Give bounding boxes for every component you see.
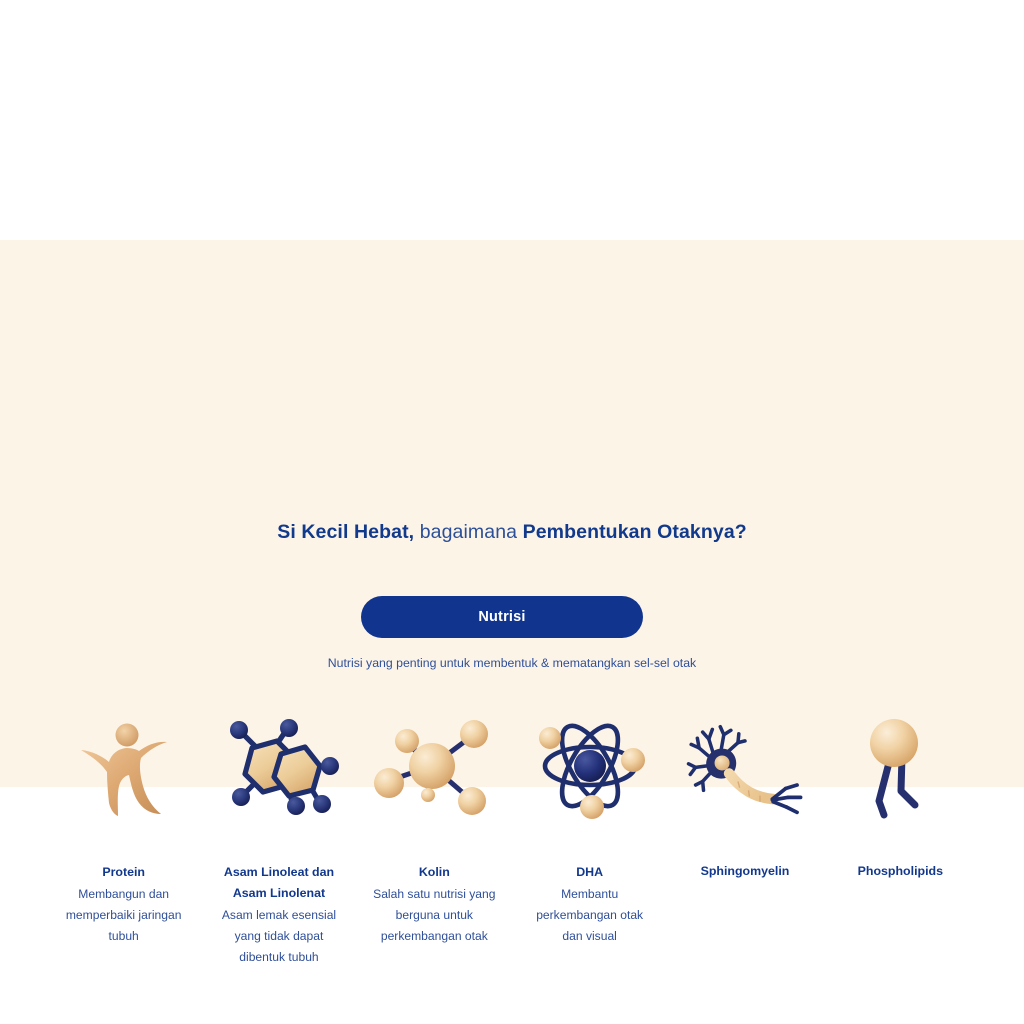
nutrient-desc: Salah satu nutrisi yang berguna untuk pe… [369,884,499,947]
heading-bold-1: Si Kecil Hebat, [277,521,414,543]
nutrient-desc: Asam lemak esensial yang tidak dapat dib… [214,905,344,968]
human-figure-icon [64,710,184,830]
nutrient-card-kolin: Kolin Salah satu nutrisi yang berguna un… [357,710,512,947]
nutrient-title: Phospholipids [858,861,943,882]
atom-orbit-icon [530,710,650,830]
nutrient-card-phospholipids: Phospholipids [823,710,978,883]
nutrient-desc: Membangun dan memperbaiki jaringan tubuh [59,884,189,947]
nutrient-card-dha: DHA Membantu perkembangan otak dan visua… [512,710,667,947]
nutrient-card-protein: Protein Membangun dan memperbaiki jaring… [46,710,201,947]
ball-and-stick-molecule-icon [374,710,494,830]
section-subtitle: Nutrisi yang penting untuk membentuk & m… [0,654,1024,672]
nutrient-title: Sphingomyelin [701,861,790,882]
fused-hexagon-molecule-icon [219,710,339,830]
heading-bold-2: Pembentukan Otaknya? [523,521,747,543]
phospholipid-icon [840,710,960,830]
page-root: Si Kecil Hebat, bagaimana Pembentukan Ot… [0,0,1024,1024]
nutrient-card-sphingomyelin: Sphingomyelin [667,710,822,883]
heading-normal: bagaimana [414,521,522,543]
nutrient-title: Kolin [419,862,450,883]
nutrient-grid: Protein Membangun dan memperbaiki jaring… [46,710,978,968]
nutrition-section-band: Si Kecil Hebat, bagaimana Pembentukan Ot… [0,240,1024,787]
nutrisi-button[interactable]: Nutrisi [361,596,643,638]
nutrient-desc: Membantu perkembangan otak dan visual [525,884,655,947]
neuron-icon [685,710,805,830]
nutrient-title: Asam Linoleat dan Asam Linolenat [211,862,346,904]
section-heading: Si Kecil Hebat, bagaimana Pembentukan Ot… [0,518,1024,546]
nutrient-title: DHA [576,862,603,883]
nutrient-title: Protein [102,862,145,883]
nutrient-card-asam-linoleat: Asam Linoleat dan Asam Linolenat Asam le… [201,710,356,968]
